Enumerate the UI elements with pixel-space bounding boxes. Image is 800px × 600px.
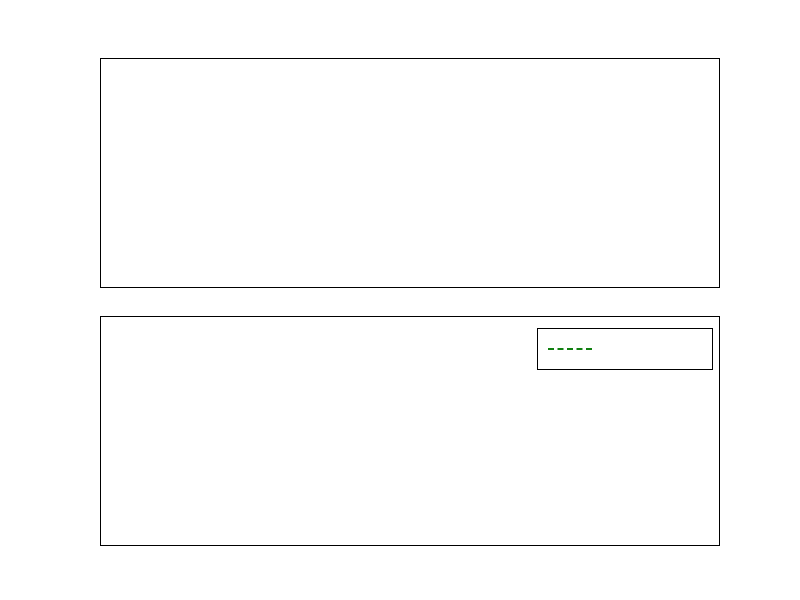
legend — [537, 328, 713, 370]
top-axes-differential-histogram — [100, 58, 720, 288]
differential-histogram-plot — [101, 59, 719, 287]
legend-swatch-mag-limit — [548, 348, 592, 350]
figure-canvas — [0, 0, 800, 600]
